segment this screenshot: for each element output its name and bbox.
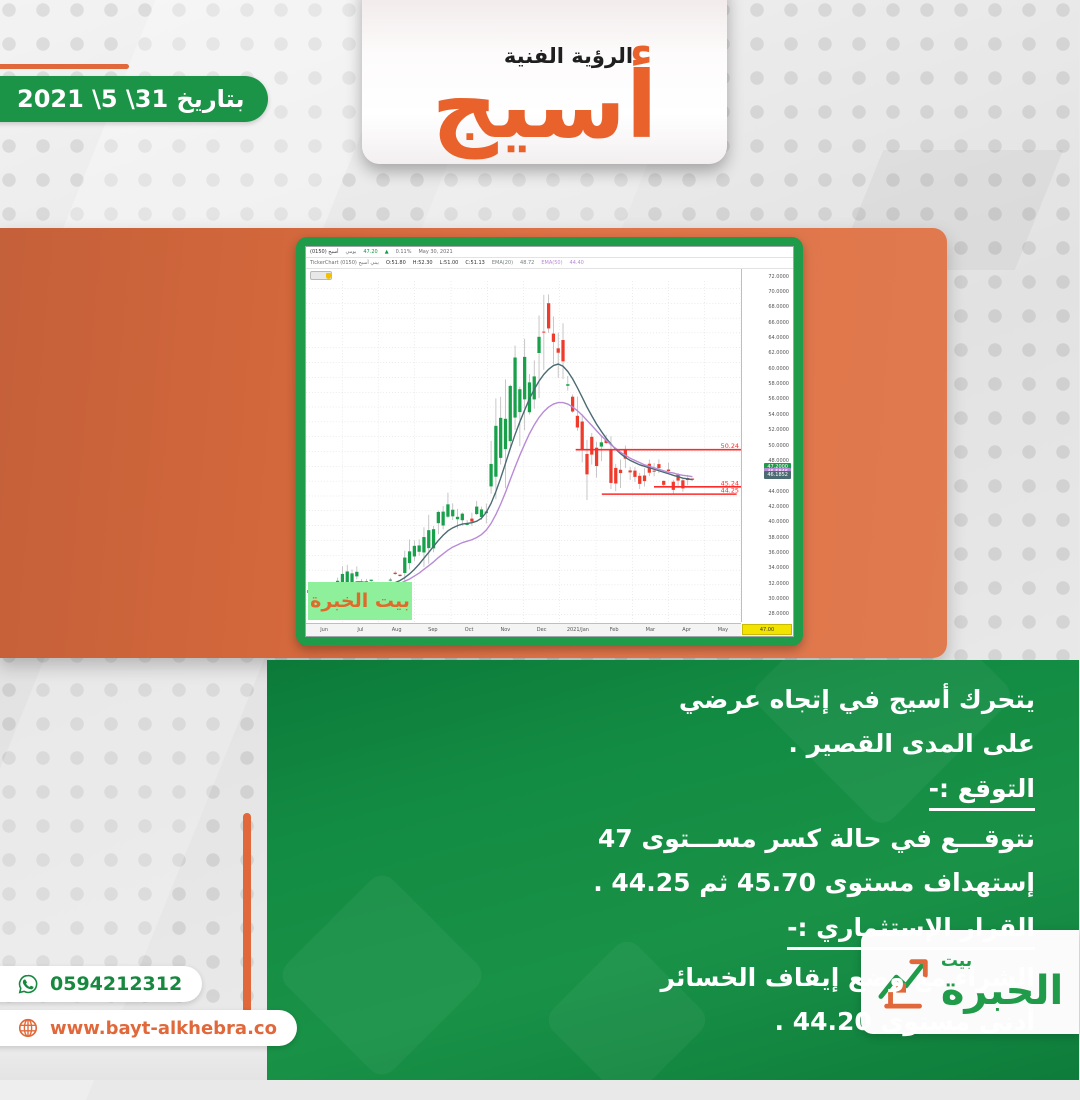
chart-tool-chip[interactable] bbox=[311, 271, 333, 280]
price-tick: 52.0000 bbox=[769, 427, 790, 433]
decision-heading-wrap: القرار الإستثماري :- bbox=[298, 913, 1036, 964]
date-badge: بتاريخ 31\ 5\ 2021 bbox=[0, 76, 269, 122]
website-contact[interactable]: www.bayt-alkhebra.co bbox=[0, 1010, 298, 1046]
price-tick: 34.0000 bbox=[769, 565, 790, 571]
price-tick: 44.0000 bbox=[769, 489, 790, 495]
candlestick-svg: 50.2445.2444.25 bbox=[307, 281, 742, 622]
decision-heading: القرار الإستثماري :- bbox=[788, 913, 1036, 950]
time-tick: Aug bbox=[393, 627, 403, 633]
time-tick: Oct bbox=[466, 627, 475, 633]
price-tick: 38.0000 bbox=[769, 535, 790, 541]
price-tick: 36.0000 bbox=[769, 550, 790, 556]
bulb-icon bbox=[327, 273, 332, 279]
price-tick: 32.0000 bbox=[769, 581, 790, 587]
price-tick: 56.0000 bbox=[769, 396, 790, 402]
chart-close: C:51.13 bbox=[466, 260, 486, 266]
forecast-heading-wrap: التوقع :- bbox=[298, 774, 1036, 825]
chart-watermark: بيت الخبرة bbox=[309, 582, 413, 620]
chart-ema50-label: EMA(50) bbox=[542, 260, 563, 266]
time-tick: Nov bbox=[501, 627, 511, 633]
time-tick: May bbox=[719, 627, 729, 633]
chart-change-arrow: ▲ bbox=[386, 249, 390, 255]
whatsapp-icon bbox=[18, 973, 40, 995]
price-tick: 60.0000 bbox=[769, 366, 790, 372]
price-tick: 54.0000 bbox=[769, 412, 790, 418]
chart-low: L:51.00 bbox=[441, 260, 460, 266]
chart-ema20-label: EMA(20) bbox=[493, 260, 514, 266]
chart-plot-area: 50.2445.2444.25 bbox=[307, 281, 742, 622]
time-tick: Sep bbox=[429, 627, 438, 633]
price-tick: 58.0000 bbox=[769, 381, 790, 387]
header-logo-card: الرؤية الفنية أسيج bbox=[363, 0, 728, 164]
time-tick: Apr bbox=[683, 627, 692, 633]
watermark-text: بيت الخبرة bbox=[311, 590, 411, 612]
price-tick: 50.0000 bbox=[769, 443, 790, 449]
poster-root: بتاريخ 31\ 5\ 2021 الرؤية الفنية أسيج أس… bbox=[0, 0, 1080, 1080]
price-tick: 28.0000 bbox=[769, 611, 790, 617]
analysis-line-5: الشراء مع وضع إيقاف الخسائر bbox=[298, 964, 1036, 991]
analysis-line-2: على المدى القصير . bbox=[298, 730, 1036, 757]
price-badge: 46.1852 bbox=[765, 471, 792, 479]
price-tick: 64.0000 bbox=[769, 335, 790, 341]
chart-last-price: 47.20 bbox=[364, 249, 378, 255]
time-axis: JunJulAugSepOctNovDec2021/JanFebMarAprMa… bbox=[307, 623, 742, 636]
time-tick: Feb bbox=[611, 627, 620, 633]
chart-date: May 30, 2021 bbox=[419, 249, 453, 255]
svg-text:50.24: 50.24 bbox=[722, 442, 740, 450]
header-brand: أسيج bbox=[433, 62, 659, 150]
time-tick: Jul bbox=[358, 627, 364, 633]
analysis-panel: يتحرك أسيج في إتجاه عرضي على المدى القصي… bbox=[268, 660, 1080, 1080]
price-tick: 68.0000 bbox=[769, 304, 790, 310]
whatsapp-contact[interactable]: 0594212312 bbox=[0, 966, 203, 1002]
price-axis: 72.000070.000068.000066.000064.000062.00… bbox=[742, 269, 794, 622]
price-tick: 40.0000 bbox=[769, 519, 790, 525]
date-text: بتاريخ 31\ 5\ 2021 bbox=[18, 85, 245, 113]
chart-frame: أسيج (0150) يومي 47.20 ▲ 0.11% May 30, 2… bbox=[297, 237, 804, 646]
price-tick: 30.0000 bbox=[769, 596, 790, 602]
chart-source: TickerChart يبني أسيج (0150) bbox=[311, 260, 380, 266]
price-tick: 42.0000 bbox=[769, 504, 790, 510]
header-brand-wrap: أسيج bbox=[433, 62, 659, 150]
whatsapp-number: 0594212312 bbox=[51, 973, 183, 995]
website-url: www.bayt-alkhebra.co bbox=[51, 1018, 278, 1039]
chart-ema20-value: 48.72 bbox=[521, 260, 535, 266]
bottom-left-strip bbox=[0, 1040, 268, 1080]
svg-text:44.25: 44.25 bbox=[722, 487, 740, 495]
analysis-line-3: نتوقـــع في حالة كسر مســـتوى 47 bbox=[298, 825, 1036, 852]
time-tick: 2021/Jan bbox=[568, 627, 590, 633]
chart-open: O:51.80 bbox=[387, 260, 407, 266]
date-rule-decoration bbox=[0, 64, 130, 69]
globe-icon bbox=[18, 1017, 40, 1039]
analysis-line-6: أدنى مستوى 44.20 . bbox=[298, 1008, 1036, 1035]
chart-ohlc-bar: TickerChart يبني أسيج (0150) O:51.80 H:5… bbox=[307, 258, 794, 269]
time-tick: Mar bbox=[647, 627, 656, 633]
price-tick: 66.0000 bbox=[769, 320, 790, 326]
chart-high: H:52.30 bbox=[414, 260, 434, 266]
chart-info-bar: أسيج (0150) يومي 47.20 ▲ 0.11% May 30, 2… bbox=[307, 247, 794, 258]
corner-badge-text: 47.00 bbox=[761, 627, 775, 633]
price-tick: 70.0000 bbox=[769, 289, 790, 295]
analysis-line-4: إستهداف مستوى 45.70 ثم 44.25 . bbox=[298, 869, 1036, 896]
analysis-copy: يتحرك أسيج في إتجاه عرضي على المدى القصي… bbox=[268, 660, 1080, 1035]
price-tick: 72.0000 bbox=[769, 274, 790, 280]
price-tick: 62.0000 bbox=[769, 350, 790, 356]
chart-interval: يومي bbox=[347, 249, 358, 255]
analysis-line-1: يتحرك أسيج في إتجاه عرضي bbox=[298, 686, 1036, 713]
forecast-heading: التوقع :- bbox=[930, 774, 1036, 811]
time-tick: Dec bbox=[538, 627, 548, 633]
chart-ema50-value: 44.40 bbox=[571, 260, 585, 266]
chart-symbol: أسيج (0150) bbox=[311, 249, 340, 255]
chart-screenshot: أسيج (0150) يومي 47.20 ▲ 0.11% May 30, 2… bbox=[306, 246, 795, 637]
chart-change-pct: 0.11% bbox=[397, 249, 413, 255]
chart-corner-badge: 47.00 bbox=[743, 624, 793, 635]
time-tick: Jun bbox=[321, 627, 329, 633]
